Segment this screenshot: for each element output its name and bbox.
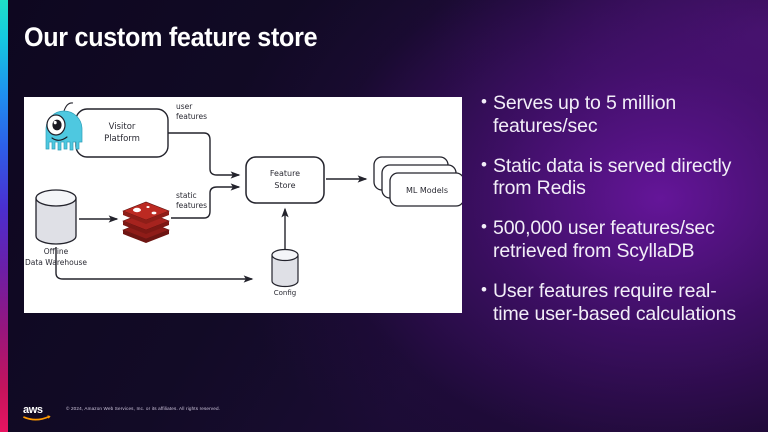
scylladb-monster-icon — [46, 103, 82, 150]
ml-models-label: ML Models — [406, 186, 448, 195]
edge-label-static-features: static features — [176, 191, 207, 210]
redis-stack-icon — [123, 202, 169, 243]
node-ml-models: ML Models — [374, 157, 462, 206]
user-features-line1: user — [176, 102, 193, 111]
architecture-diagram-panel: Visitor Platform user features — [24, 97, 462, 313]
node-feature-store: Feature Store — [246, 157, 324, 203]
bullet-text: 500,000 user features/sec retrieved from… — [493, 217, 751, 263]
config-label: Config — [274, 289, 296, 297]
bullet-dot-icon: • — [481, 92, 493, 113]
bullet-dot-icon: • — [481, 280, 493, 301]
static-features-line2: features — [176, 201, 207, 210]
visitor-platform-label-line1: Visitor — [109, 122, 136, 132]
node-visitor-platform: Visitor Platform — [76, 109, 168, 157]
bullet-text: Serves up to 5 million features/sec — [493, 92, 751, 138]
bullet-item: • Static data is served directly from Re… — [481, 155, 751, 201]
visitor-platform-label-line2: Platform — [104, 134, 140, 144]
footer-copyright: © 2024, Amazon Web Services, Inc. or its… — [66, 406, 220, 411]
slide-canvas: Our custom feature store Visitor Platfor… — [0, 0, 768, 432]
bullet-item: • Serves up to 5 million features/sec — [481, 92, 751, 138]
bullet-text: Static data is served directly from Redi… — [493, 155, 751, 201]
svg-text:aws: aws — [23, 404, 43, 416]
bullet-item: • User features require real-time user-b… — [481, 280, 751, 326]
feature-store-label-line2: Store — [274, 181, 295, 190]
accent-stripe — [0, 0, 8, 432]
edge-visitor-to-feature-store — [168, 133, 239, 175]
bullet-text: User features require real-time user-bas… — [493, 280, 751, 326]
bullet-dot-icon: • — [481, 217, 493, 238]
bullet-dot-icon: • — [481, 155, 493, 176]
edge-label-user-features: user features — [176, 102, 207, 121]
bullet-list: • Serves up to 5 million features/sec • … — [481, 92, 751, 343]
user-features-line2: features — [176, 112, 207, 121]
node-config: Config — [272, 250, 298, 298]
architecture-diagram: Visitor Platform user features — [24, 97, 462, 313]
bullet-item: • 500,000 user features/sec retrieved fr… — [481, 217, 751, 263]
feature-store-label-line1: Feature — [270, 169, 300, 178]
page-title: Our custom feature store — [24, 22, 317, 53]
static-features-line1: static — [176, 191, 197, 200]
aws-logo: aws — [22, 402, 56, 422]
